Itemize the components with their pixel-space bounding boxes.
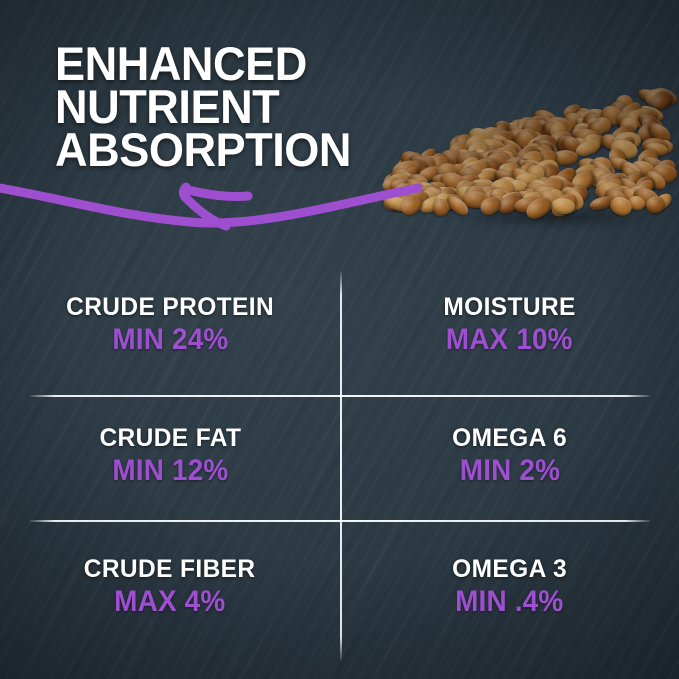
spec-label: OMEGA 3 [452,555,567,584]
spec-value: MIN 12% [112,454,228,488]
spec-label: CRUDE PROTEIN [66,293,274,322]
spec-cell-omega-3: OMEGA 3 MIN .4% [340,520,679,658]
spec-cell-moisture: MOISTURE MAX 10% [340,258,679,395]
page-title: ENHANCED NUTRIENT ABSORPTION [55,42,506,171]
spec-value: MIN 24% [112,323,228,357]
spec-value: MAX 10% [446,323,573,357]
spec-value: MIN 2% [459,454,559,488]
spec-label: CRUDE FAT [99,424,241,453]
spec-value: MAX 4% [114,585,225,619]
spec-label: MOISTURE [443,293,575,322]
product-nutrition-infographic: ENHANCED NUTRIENT ABSORPTION CRUDE PROTE… [0,0,679,679]
spec-cell-crude-protein: CRUDE PROTEIN MIN 24% [0,258,340,395]
spec-cell-omega-6: OMEGA 6 MIN 2% [340,395,679,520]
spec-cell-crude-fiber: CRUDE FIBER MAX 4% [0,520,340,658]
spec-label: OMEGA 6 [452,424,567,453]
spec-cell-crude-fat: CRUDE FAT MIN 12% [0,395,340,520]
spec-label: CRUDE FIBER [84,555,256,584]
spec-value: MIN .4% [455,585,563,619]
guaranteed-analysis-grid: CRUDE PROTEIN MIN 24% MOISTURE MAX 10% C… [0,258,679,658]
